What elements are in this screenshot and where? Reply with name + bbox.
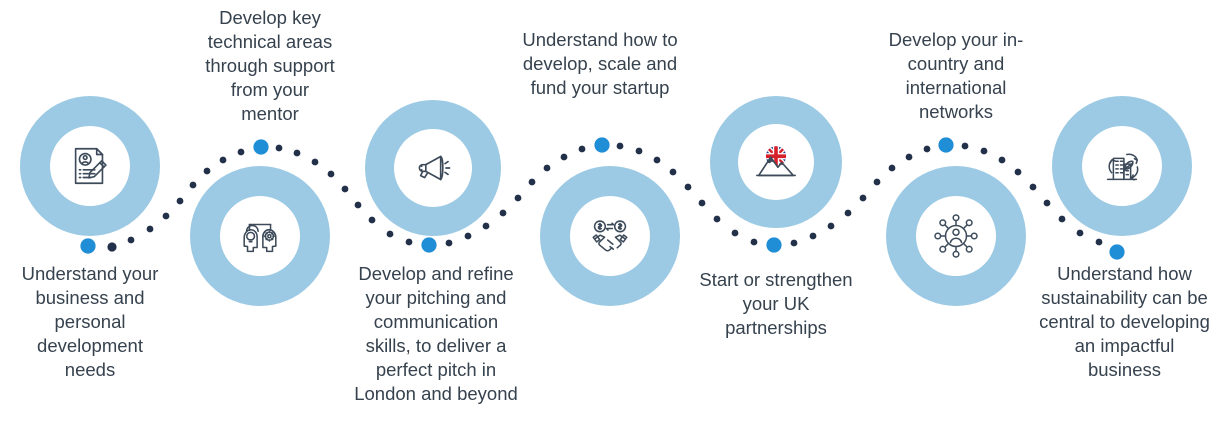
step-caption-4: Understand how to develop, scale and fun… (502, 28, 698, 100)
accent-dot-7 (1109, 244, 1124, 259)
person-network-icon (932, 212, 980, 260)
sustainable-building-recycle-icon (1099, 143, 1145, 189)
step-node-1[interactable] (20, 96, 160, 236)
accent-dot-1 (80, 238, 95, 253)
accent-dot-6 (938, 137, 953, 152)
step-node-3-inner (394, 129, 472, 207)
step-caption-6: Develop your in- country and internation… (858, 28, 1054, 124)
infographic-journey: Understand your business and personal de… (0, 0, 1231, 430)
step-node-3[interactable] (365, 100, 501, 236)
megaphone-icon (410, 145, 456, 191)
two-heads-lightbulb-gear-icon (237, 213, 283, 259)
accent-dot-2 (253, 139, 268, 154)
step-node-2-inner (220, 196, 300, 276)
step-node-1-inner (50, 126, 130, 206)
document-profile-pencil-icon (67, 143, 113, 189)
accent-dot-5 (766, 237, 781, 252)
step-node-6-inner (916, 196, 996, 276)
step-caption-5: Start or strengthen your UK partnerships (678, 268, 874, 340)
step-node-7[interactable] (1052, 96, 1192, 236)
step-node-4[interactable] (540, 166, 680, 306)
accent-dot-3 (421, 237, 436, 252)
accent-dot-4 (594, 137, 609, 152)
handshake-money-icon (587, 213, 633, 259)
step-caption-7: Understand how sustainability can be cen… (1018, 262, 1231, 382)
uk-flag-mountains-icon (753, 139, 799, 185)
step-caption-2: Develop key technical areas through supp… (172, 6, 368, 126)
step-node-7-inner (1082, 126, 1162, 206)
step-node-5-inner (738, 124, 814, 200)
step-node-5[interactable] (710, 96, 842, 228)
step-node-2[interactable] (190, 166, 330, 306)
step-caption-3: Develop and refine your pitching and com… (338, 262, 534, 406)
step-node-4-inner (570, 196, 650, 276)
step-node-6[interactable] (886, 166, 1026, 306)
step-caption-1: Understand your business and personal de… (0, 262, 180, 382)
